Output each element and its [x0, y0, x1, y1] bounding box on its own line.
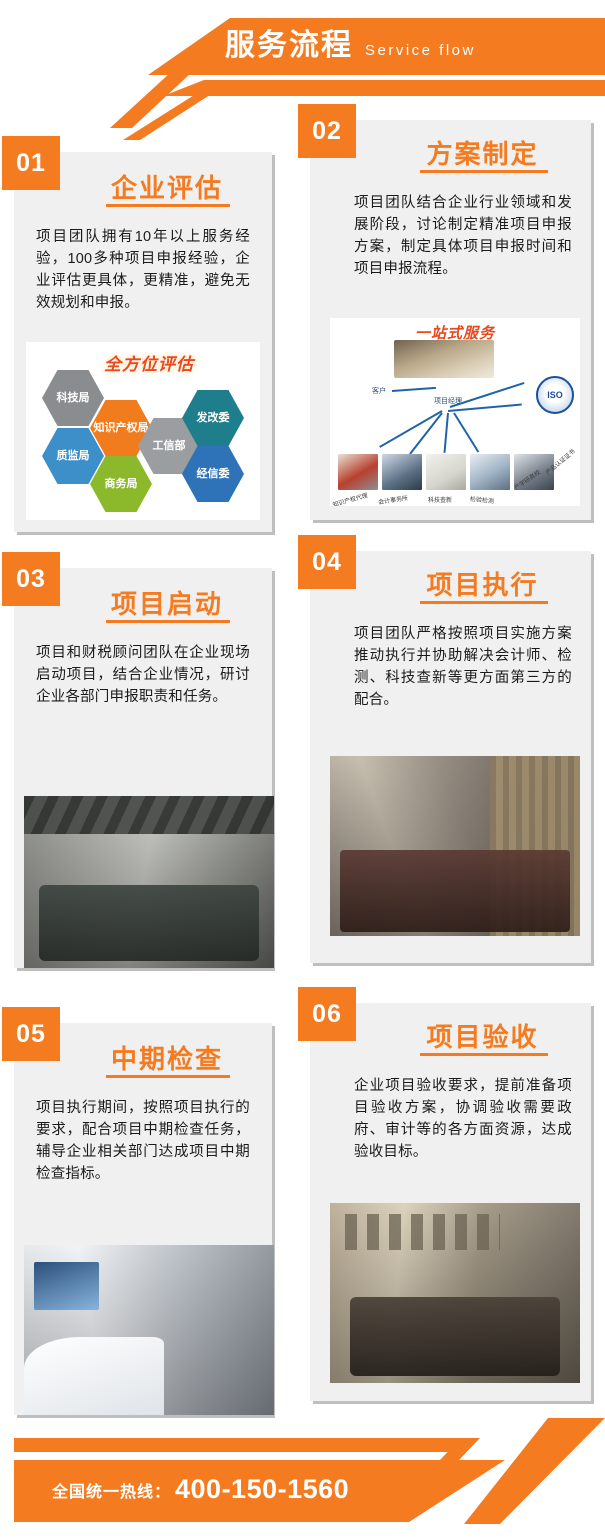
step-title: 项目验收 — [380, 1017, 585, 1054]
service-flow-infographic: 服务流程 Service flow 01 企业评估 项目团队拥有10年以上服务经… — [0, 0, 605, 1538]
hex-node-label: 发改委 — [195, 412, 232, 424]
service-thumb — [470, 454, 510, 490]
hex-node-keji: 科技局 — [42, 370, 104, 426]
one-stop-client-label: 客户 — [372, 386, 386, 396]
hex-node-label: 经信委 — [195, 468, 232, 480]
step-title: 方案制定 — [380, 134, 585, 171]
photo-lobby-visit — [24, 1245, 274, 1415]
step-number-badge: 03 — [2, 552, 60, 606]
footer-banner: 全国统一热线： 400-150-1560 — [0, 1418, 605, 1538]
step-title: 项目启动 — [72, 584, 262, 621]
flow-arrow — [453, 412, 479, 452]
flow-arrow — [444, 413, 449, 453]
one-stop-team-photo — [394, 340, 494, 378]
service-thumb — [338, 454, 378, 490]
flow-arrow — [392, 387, 436, 392]
step-number-badge: 05 — [2, 1007, 60, 1061]
step-description: 项目团队严格按照项目实施方案推动执行并协助解决会计师、检测、科技查新等更方面第三… — [354, 623, 572, 711]
title-underline — [106, 204, 230, 207]
title-underline — [106, 1075, 230, 1078]
service-caption: 会计事务所 — [378, 493, 409, 506]
service-caption: 知识产权代理 — [331, 490, 368, 506]
service-caption: 科技查新 — [428, 495, 452, 504]
hex-diagram: 全方位评估 科技局 知识产权局 质监局 工信部 商务局 发改委 经信委 — [26, 342, 260, 520]
header-banner: 服务流程 Service flow — [0, 0, 605, 120]
photo-meeting-laptops — [330, 756, 580, 936]
title-underline — [420, 601, 548, 604]
step-description: 项目团队结合企业行业领域和发展阶段，讨论制定精准项目申报方案，制定具体项目申报时… — [354, 192, 572, 280]
footer-stripe — [14, 1438, 605, 1452]
one-stop-diagram: 一站式服务 客户 项目经理 知识产权代理 会计事务所 科技查新 检验检测 产学研… — [330, 318, 580, 506]
photo-audit-meeting — [330, 1203, 580, 1383]
photo-conference-room — [24, 796, 274, 968]
step-description: 企业项目验收要求，提前准备项目验收方案，协调验收需要政府、审计等的各方面资源，达… — [354, 1075, 572, 1163]
service-thumb — [382, 454, 422, 490]
header-stripe — [0, 80, 605, 96]
step-number-badge: 06 — [298, 987, 356, 1041]
step-number-badge: 04 — [298, 535, 356, 589]
title-underline — [420, 1053, 548, 1056]
step-card-04[interactable]: 04 项目执行 项目团队严格按照项目实施方案推动执行并协助解决会计师、检测、科技… — [310, 551, 591, 963]
hex-node-label: 商务局 — [103, 478, 140, 490]
hex-diagram-title: 全方位评估 — [104, 350, 194, 375]
photo-image — [24, 796, 274, 968]
step-number-badge: 01 — [2, 136, 60, 190]
step-title: 中期检查 — [72, 1039, 262, 1076]
hotline-number[interactable]: 400-150-1560 — [175, 1474, 349, 1505]
photo-image — [24, 1245, 274, 1415]
service-thumb — [426, 454, 466, 490]
title-underline — [106, 620, 230, 623]
page-title-en: Service flow — [365, 42, 476, 59]
step-description: 项目和财税顾问团队在企业现场启动项目，结合企业情况，研讨企业各部门申报职责和任务… — [36, 642, 250, 708]
photo-image — [330, 756, 580, 936]
hotline-group: 全国统一热线： 400-150-1560 — [52, 1474, 349, 1505]
step-title: 项目执行 — [380, 565, 585, 602]
step-card-01[interactable]: 01 企业评估 项目团队拥有10年以上服务经验，100多种项目申报经验，企业评估… — [14, 152, 272, 532]
step-card-02[interactable]: 02 方案制定 项目团队结合企业行业领域和发展阶段，讨论制定精准项目申报方案，制… — [310, 120, 591, 520]
step-number-badge: 02 — [298, 104, 356, 158]
hotline-label: 全国统一热线： — [52, 1478, 171, 1502]
hex-node-label: 质监局 — [55, 450, 92, 462]
step-description: 项目团队拥有10年以上服务经验，100多种项目申报经验，企业评估更具体，更精准，… — [36, 226, 250, 314]
iso-seal-icon: ISO — [536, 376, 574, 414]
step-card-06[interactable]: 06 项目验收 企业项目验收要求，提前准备项目验收方案，协调验收需要政府、审计等… — [310, 1003, 591, 1401]
step-card-05[interactable]: 05 中期检查 项目执行期间，按照项目执行的要求，配合项目中期检查任务，辅导企业… — [14, 1023, 272, 1415]
hex-node-label: 知识产权局 — [92, 422, 151, 434]
title-underline — [420, 170, 548, 173]
step-title: 企业评估 — [72, 168, 262, 205]
page-title-cn: 服务流程 — [225, 26, 353, 66]
photo-image — [330, 1203, 580, 1383]
service-caption: 检验检测 — [470, 494, 495, 505]
step-card-03[interactable]: 03 项目启动 项目和财税顾问团队在企业现场启动项目，结合企业情况，研讨企业各部… — [14, 568, 272, 968]
hex-node-label: 工信部 — [151, 440, 188, 452]
step-description: 项目执行期间，按照项目执行的要求，配合项目中期检查任务，辅导企业相关部门达成项目… — [36, 1097, 250, 1185]
hex-node-label: 科技局 — [55, 392, 92, 404]
flow-arrow — [379, 410, 442, 448]
header-title-group: 服务流程 Service flow — [225, 26, 476, 66]
